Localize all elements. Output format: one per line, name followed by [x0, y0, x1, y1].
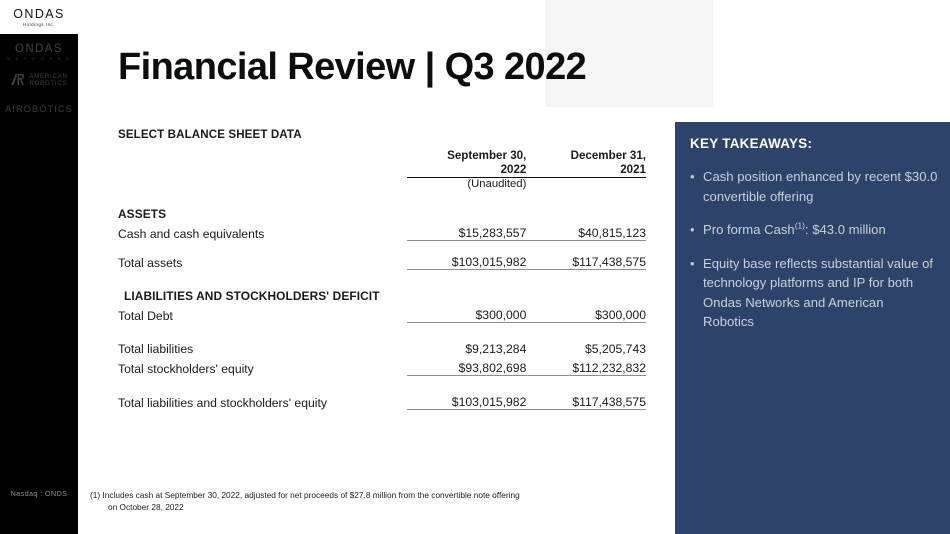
- bullet-dot-icon: •: [690, 254, 703, 332]
- ondas-holdings-logo-sub: Holdings Inc.: [23, 22, 55, 27]
- row-label-total-equity: Total stockholders' equity: [118, 356, 407, 376]
- key-takeaways-panel: KEY TAKEAWAYS: • Cash position enhanced …: [675, 122, 950, 534]
- key-takeaway-text-1-main: Cash position enhanced by recent $30.0 c…: [703, 169, 937, 204]
- ondas-holdings-logo-word: ONDAS: [13, 7, 64, 21]
- key-takeaway-text-2-tail: : $43.0 million: [805, 222, 886, 237]
- american-robotics-logo-lines: AMERICAN ROBOTICS: [29, 74, 67, 88]
- table-row: Cash and cash equivalents $15,283,557 $4…: [118, 221, 646, 241]
- row-label-cash: Cash and cash equivalents: [118, 221, 407, 241]
- subheader-label-cell: [118, 178, 407, 191]
- balance-sheet-section: SELECT BALANCE SHEET DATA September 30, …: [118, 128, 646, 410]
- slide-canvas: ONDAS Holdings Inc. ONDAS N E T W O R K …: [0, 0, 950, 534]
- row-value-total-liab-equity-c2: $117,438,575: [526, 390, 646, 410]
- column-header-1-line1: September 30,: [407, 149, 527, 163]
- footnote-line-1: (1) Includes cash at September 30, 2022,…: [90, 489, 635, 501]
- column-header-1: September 30, 2022: [407, 149, 527, 178]
- column-header-1-line2: 2022: [407, 163, 527, 177]
- key-takeaway-sup-2: (1): [795, 221, 805, 231]
- row-value-total-liab-equity-c1: $103,015,982: [407, 390, 527, 410]
- key-takeaway-text-2: Pro forma Cash(1): $43.0 million: [703, 220, 886, 240]
- section-header-assets-row: ASSETS: [118, 202, 646, 221]
- row-label-total-liab-equity: Total liabilities and stockholders' equi…: [118, 390, 407, 410]
- row-value-total-debt-c1: $300,000: [407, 303, 527, 323]
- row-value-total-assets-c1: $103,015,982: [407, 250, 527, 270]
- row-label-total-assets: Total assets: [118, 250, 407, 270]
- row-value-cash-c1: $15,283,557: [407, 221, 527, 241]
- row-value-total-equity-c2: $112,232,832: [526, 356, 646, 376]
- header-label-cell: [118, 149, 407, 178]
- row-value-total-debt-c2: $300,000: [526, 303, 646, 323]
- row-value-total-liabilities-c2: $5,205,743: [526, 337, 646, 356]
- footnote: (1) Includes cash at September 30, 2022,…: [90, 489, 635, 513]
- table-row: Total liabilities and stockholders' equi…: [118, 390, 646, 410]
- table-header-row: September 30, 2022 December 31, 2021: [118, 149, 646, 178]
- ondas-networks-logo-word: ONDAS: [0, 43, 78, 55]
- bullet-dot-icon: •: [690, 220, 703, 240]
- spacer-row: [118, 190, 646, 202]
- airobotics-logo: AIROBÖTICS: [0, 104, 78, 114]
- spacer-row: [118, 241, 646, 251]
- table-row: Total Debt $300,000 $300,000: [118, 303, 646, 323]
- table-row: Total liabilities $9,213,284 $5,205,743: [118, 337, 646, 356]
- column-header-1-note: (Unaudited): [407, 178, 527, 191]
- ondas-networks-logo-sub: N E T W O R K S: [0, 56, 78, 61]
- spacer-row: [118, 270, 646, 285]
- table-caption: SELECT BALANCE SHEET DATA: [118, 128, 646, 141]
- row-value-total-equity-c1: $93,802,698: [407, 356, 527, 376]
- list-item: • Pro forma Cash(1): $43.0 million: [690, 220, 938, 240]
- ondas-networks-logo: ONDAS N E T W O R K S: [0, 43, 78, 61]
- column-header-2-note: [526, 178, 646, 191]
- table-row: Total stockholders' equity $93,802,698 $…: [118, 356, 646, 376]
- key-takeaway-text-3-main: Equity base reflects substantial value o…: [703, 256, 933, 330]
- ondas-holdings-logo: ONDAS Holdings Inc.: [0, 0, 78, 34]
- ar-monogram-icon: [10, 72, 25, 90]
- balance-sheet-table: September 30, 2022 December 31, 2021 (Un…: [118, 149, 646, 410]
- row-value-cash-c2: $40,815,123: [526, 221, 646, 241]
- list-item: • Equity base reflects substantial value…: [690, 254, 938, 332]
- key-takeaways-list: • Cash position enhanced by recent $30.0…: [690, 167, 938, 346]
- key-takeaway-text-3: Equity base reflects substantial value o…: [703, 254, 938, 332]
- american-robotics-logo: AMERICAN ROBOTICS: [0, 72, 78, 90]
- nasdaq-ticker: Nasdaq : ONDS: [0, 489, 78, 498]
- page-title: Financial Review | Q3 2022: [118, 46, 586, 89]
- row-value-total-assets-c2: $117,438,575: [526, 250, 646, 270]
- column-header-2-line2: 2021: [526, 163, 646, 177]
- section-header-liabilities-row: LIABILITIES AND STOCKHOLDERS' DEFICIT: [118, 284, 646, 303]
- spacer-row: [118, 376, 646, 391]
- american-robotics-logo-line2: ROBOTICS: [29, 81, 67, 88]
- key-takeaways-title: KEY TAKEAWAYS:: [690, 136, 812, 151]
- liab-blank-1: [407, 284, 527, 303]
- table-row: Total assets $103,015,982 $117,438,575: [118, 250, 646, 270]
- key-takeaway-text-1: Cash position enhanced by recent $30.0 c…: [703, 167, 938, 206]
- list-item: • Cash position enhanced by recent $30.0…: [690, 167, 938, 206]
- column-header-2-line1: December 31,: [526, 149, 646, 163]
- table-subheader-row: (Unaudited): [118, 178, 646, 191]
- assets-blank-2: [526, 202, 646, 221]
- airobotics-logo-word: AIROBÖTICS: [0, 104, 78, 114]
- section-header-liabilities: LIABILITIES AND STOCKHOLDERS' DEFICIT: [118, 284, 407, 303]
- footnote-line-2: on October 28, 2022: [90, 501, 635, 513]
- spacer-row: [118, 323, 646, 338]
- column-header-2: December 31, 2021: [526, 149, 646, 178]
- assets-blank-1: [407, 202, 527, 221]
- row-value-total-liabilities-c1: $9,213,284: [407, 337, 527, 356]
- brand-rail: ONDAS N E T W O R K S AMERICAN ROBOTICS …: [0, 34, 78, 534]
- bullet-dot-icon: •: [690, 167, 703, 206]
- key-takeaway-text-2-main: Pro forma Cash: [703, 222, 795, 237]
- row-label-total-liabilities: Total liabilities: [118, 337, 407, 356]
- row-label-total-debt: Total Debt: [118, 303, 407, 323]
- liab-blank-2: [526, 284, 646, 303]
- section-header-assets: ASSETS: [118, 202, 407, 221]
